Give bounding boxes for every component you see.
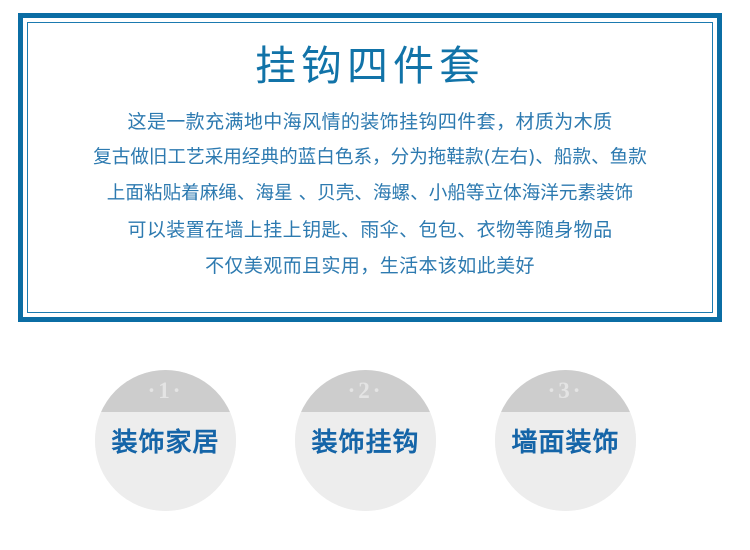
description-line: 可以装置在墙上挂上钥匙、雨伞、包包、衣物等随身物品: [127, 212, 612, 248]
feature-number-area: ·1·: [95, 370, 236, 412]
feature-label-area: 墙面装饰: [495, 412, 636, 511]
feature-number-area: ·2·: [295, 370, 436, 412]
product-description-panel: 挂钩四件套 这是一款充满地中海风情的装饰挂钩四件套，材质为木质 复古做旧工艺采用…: [18, 13, 722, 322]
feature-circle-1: ·1· 装饰家居: [95, 370, 236, 511]
description-line: 复古做旧工艺采用经典的蓝白色系，分为拖鞋款(左右)、船款、鱼款: [93, 140, 647, 176]
feature-label-area: 装饰挂钩: [295, 412, 436, 511]
description-panel-inner-border: 挂钩四件套 这是一款充满地中海风情的装饰挂钩四件套，材质为木质 复古做旧工艺采用…: [27, 22, 713, 313]
page-title: 挂钩四件套: [255, 45, 485, 88]
feature-circle-list: ·1· 装饰家居 ·2· 装饰挂钩 ·3· 墙面装饰: [0, 370, 750, 512]
description-line: 这是一款充满地中海风情的装饰挂钩四件套，材质为木质: [127, 104, 612, 140]
description-line: 不仅美观而且实用，生活本该如此美好: [205, 248, 535, 284]
feature-circle-3: ·3· 墙面装饰: [495, 370, 636, 511]
feature-label: 装饰家居: [111, 429, 219, 459]
description-text-block: 这是一款充满地中海风情的装饰挂钩四件套，材质为木质 复古做旧工艺采用经典的蓝白色…: [28, 104, 712, 284]
feature-number: ·3·: [548, 379, 584, 404]
feature-label: 墙面装饰: [511, 429, 619, 459]
feature-number-area: ·3·: [495, 370, 636, 412]
feature-label: 装饰挂钩: [311, 429, 419, 459]
feature-number: ·1·: [148, 379, 184, 404]
feature-label-area: 装饰家居: [95, 412, 236, 511]
feature-circle-2: ·2· 装饰挂钩: [295, 370, 436, 511]
feature-number: ·2·: [348, 379, 384, 404]
description-line: 上面粘贴着麻绳、海星 、贝壳、海螺、小船等立体海洋元素装饰: [107, 176, 634, 212]
